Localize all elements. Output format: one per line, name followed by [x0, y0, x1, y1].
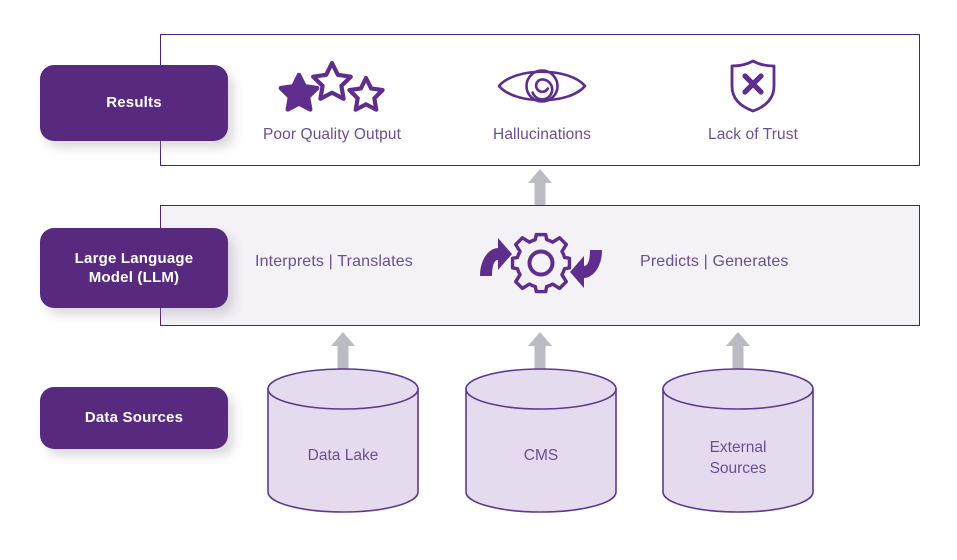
- layer-label-llm-line1: Large Language: [75, 250, 194, 267]
- result-item-poor-quality-output: Poor Quality Output: [227, 58, 437, 144]
- layer-label-data-sources-text: Data Sources: [85, 408, 183, 428]
- result-item-hallucinations: Hallucinations: [437, 58, 647, 144]
- llm-left-capabilities-text: Interprets | Translates: [255, 253, 413, 271]
- up-arrow-icon-cms-to-llm: [527, 330, 553, 370]
- layer-label-llm-line2: Model (LLM): [89, 269, 180, 286]
- up-arrow-icon-external-sources-to-llm: [725, 330, 751, 370]
- result-item-label: Lack of Trust: [648, 126, 858, 144]
- eye-spiral-icon: [437, 58, 647, 114]
- diagram-canvas: Poor Quality Output Hallucinations Lack …: [0, 0, 957, 560]
- layer-label-results-text: Results: [106, 93, 162, 113]
- cylinder-database-icon-data-lake: Data Lake: [266, 368, 420, 513]
- result-item-lack-of-trust: Lack of Trust: [648, 58, 858, 144]
- layer-label-data-sources[interactable]: Data Sources: [40, 387, 228, 449]
- layer-label-large-language-model[interactable]: Large Language Model (LLM): [40, 228, 228, 308]
- gear-with-up-down-arrows-icon: [476, 232, 606, 294]
- result-item-label: Hallucinations: [437, 126, 647, 144]
- llm-right-capabilities-text: Predicts | Generates: [640, 253, 789, 271]
- up-arrow-icon-data-lake-to-llm: [330, 330, 356, 370]
- cylinder-database-icon-external-sources: External Sources: [661, 368, 815, 513]
- layer-label-results[interactable]: Results: [40, 65, 228, 141]
- cylinder-database-icon-cms: CMS: [464, 368, 618, 513]
- shield-x-icon: [648, 58, 858, 114]
- layer-label-llm-text: Large Language Model (LLM): [75, 249, 194, 288]
- up-arrow-icon-llm-to-results: [527, 167, 553, 207]
- result-item-label: Poor Quality Output: [227, 126, 437, 144]
- three-stars-icon: [227, 58, 437, 114]
